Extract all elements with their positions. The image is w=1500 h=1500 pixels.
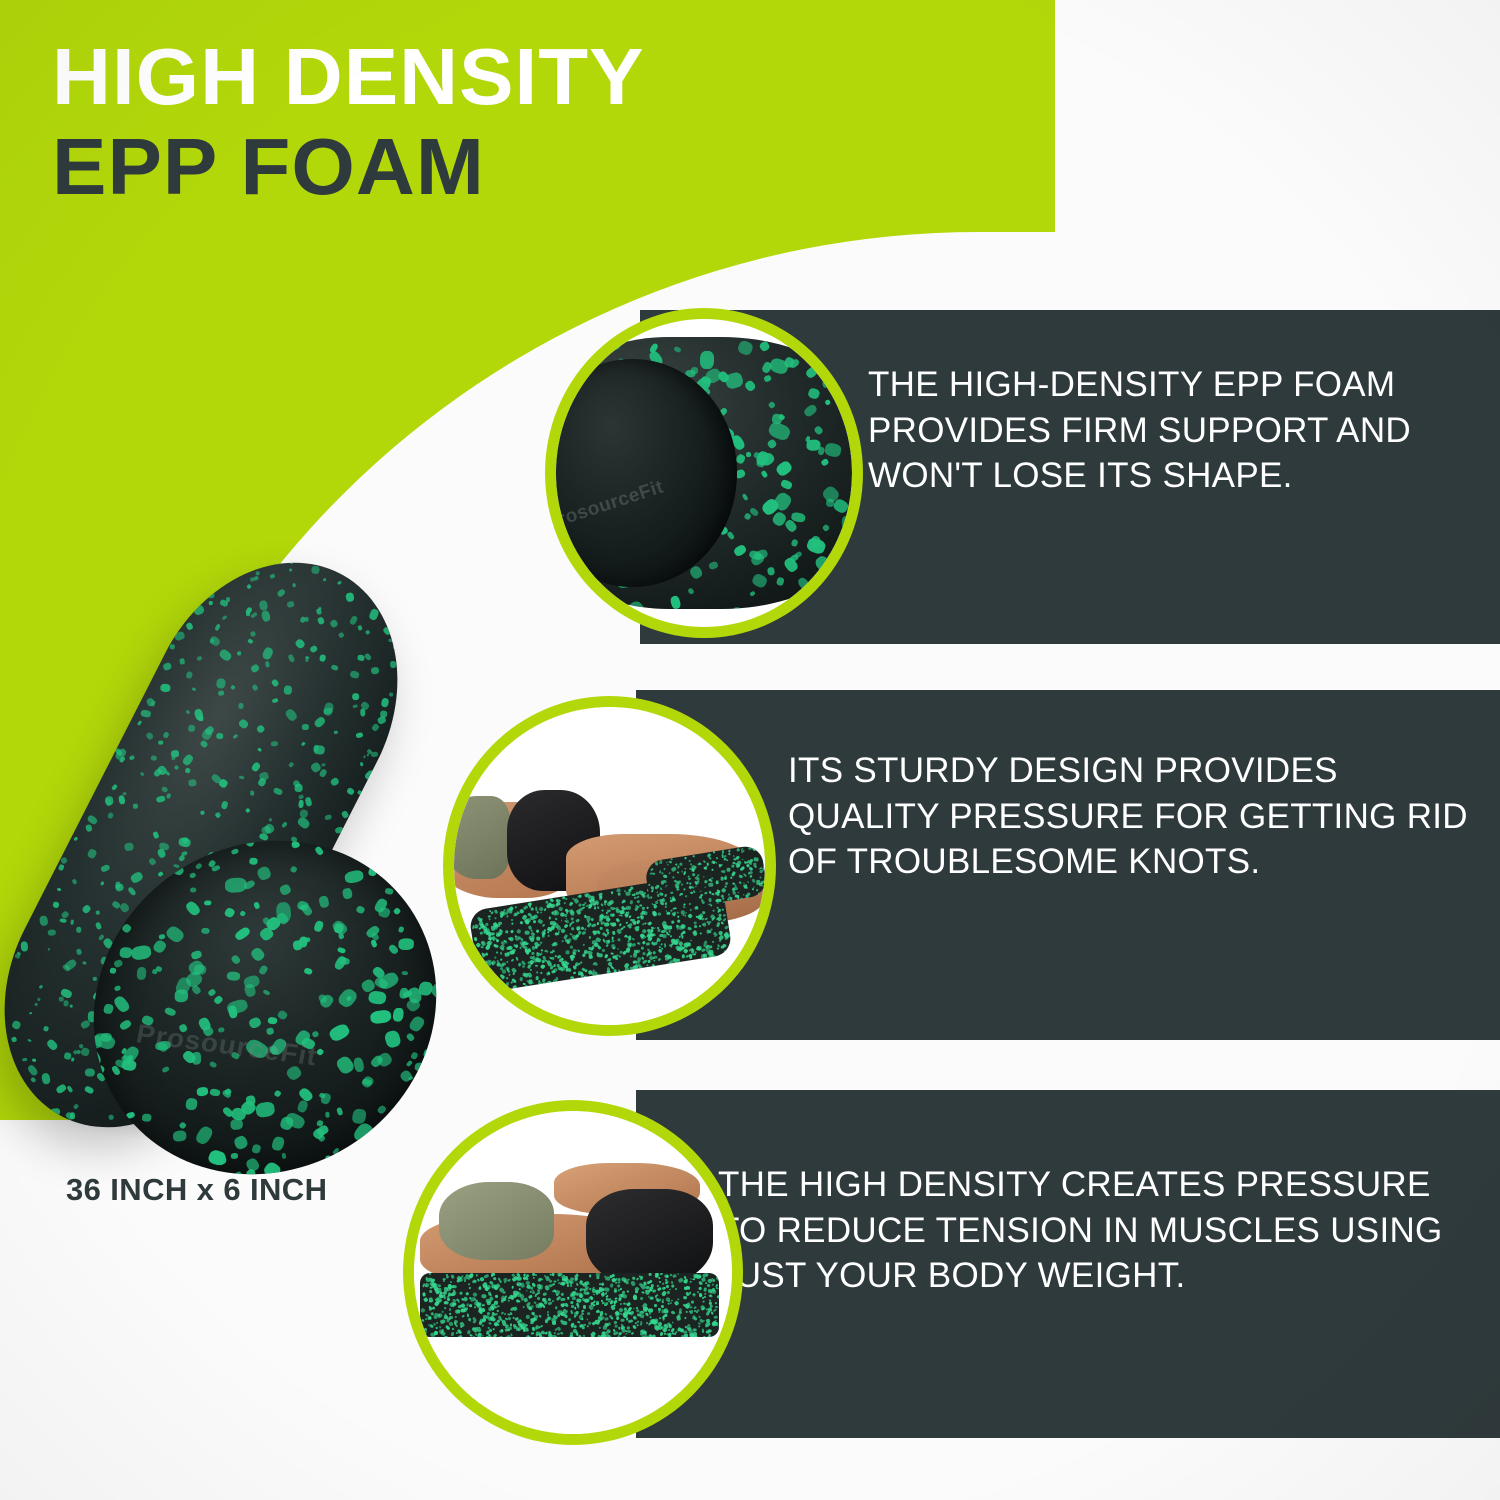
feature-image-1: ProsourceFit — [545, 308, 863, 638]
person-rolling-quads-image — [454, 707, 765, 1025]
page-title: HIGH DENSITY EPP FOAM — [52, 38, 633, 208]
scene-2 — [454, 707, 765, 1025]
figure-shorts-3 — [586, 1189, 713, 1286]
feature-text-1: THE HIGH-DENSITY EPP FOAM PROVIDES FIRM … — [868, 362, 1500, 499]
infographic-canvas: HIGH DENSITY EPP FOAM THE HIGH-DENSITY E… — [0, 0, 1500, 1500]
figure-tank-top — [439, 1182, 553, 1260]
roller-speckle-3 — [420, 1273, 719, 1338]
scene-3 — [414, 1111, 732, 1434]
feature-text-2: ITS STURDY DESIGN PROVIDES QUALITY PRESS… — [788, 748, 1488, 885]
title-line-1: HIGH DENSITY — [52, 38, 645, 116]
dimension-label: 36 INCH x 6 INCH — [66, 1172, 327, 1208]
roller-body-shape: ProsourceFit — [556, 337, 852, 608]
foam-roller-small-3 — [420, 1273, 719, 1338]
person-supine-on-roller-image — [414, 1111, 732, 1434]
feature-image-2 — [443, 696, 776, 1036]
foam-roller-closeup-image: ProsourceFit — [556, 319, 852, 627]
feature-panel-3: THE HIGH DENSITY CREATES PRESSURE TO RED… — [636, 1090, 1500, 1438]
title-line-2: EPP FOAM — [52, 126, 645, 208]
hero-product-image: ProsourceFit — [12, 600, 432, 1130]
feature-image-3 — [403, 1100, 743, 1445]
figure-top-garment — [454, 796, 510, 879]
feature-text-3: THE HIGH DENSITY CREATES PRESSURE TO RED… — [718, 1162, 1488, 1299]
